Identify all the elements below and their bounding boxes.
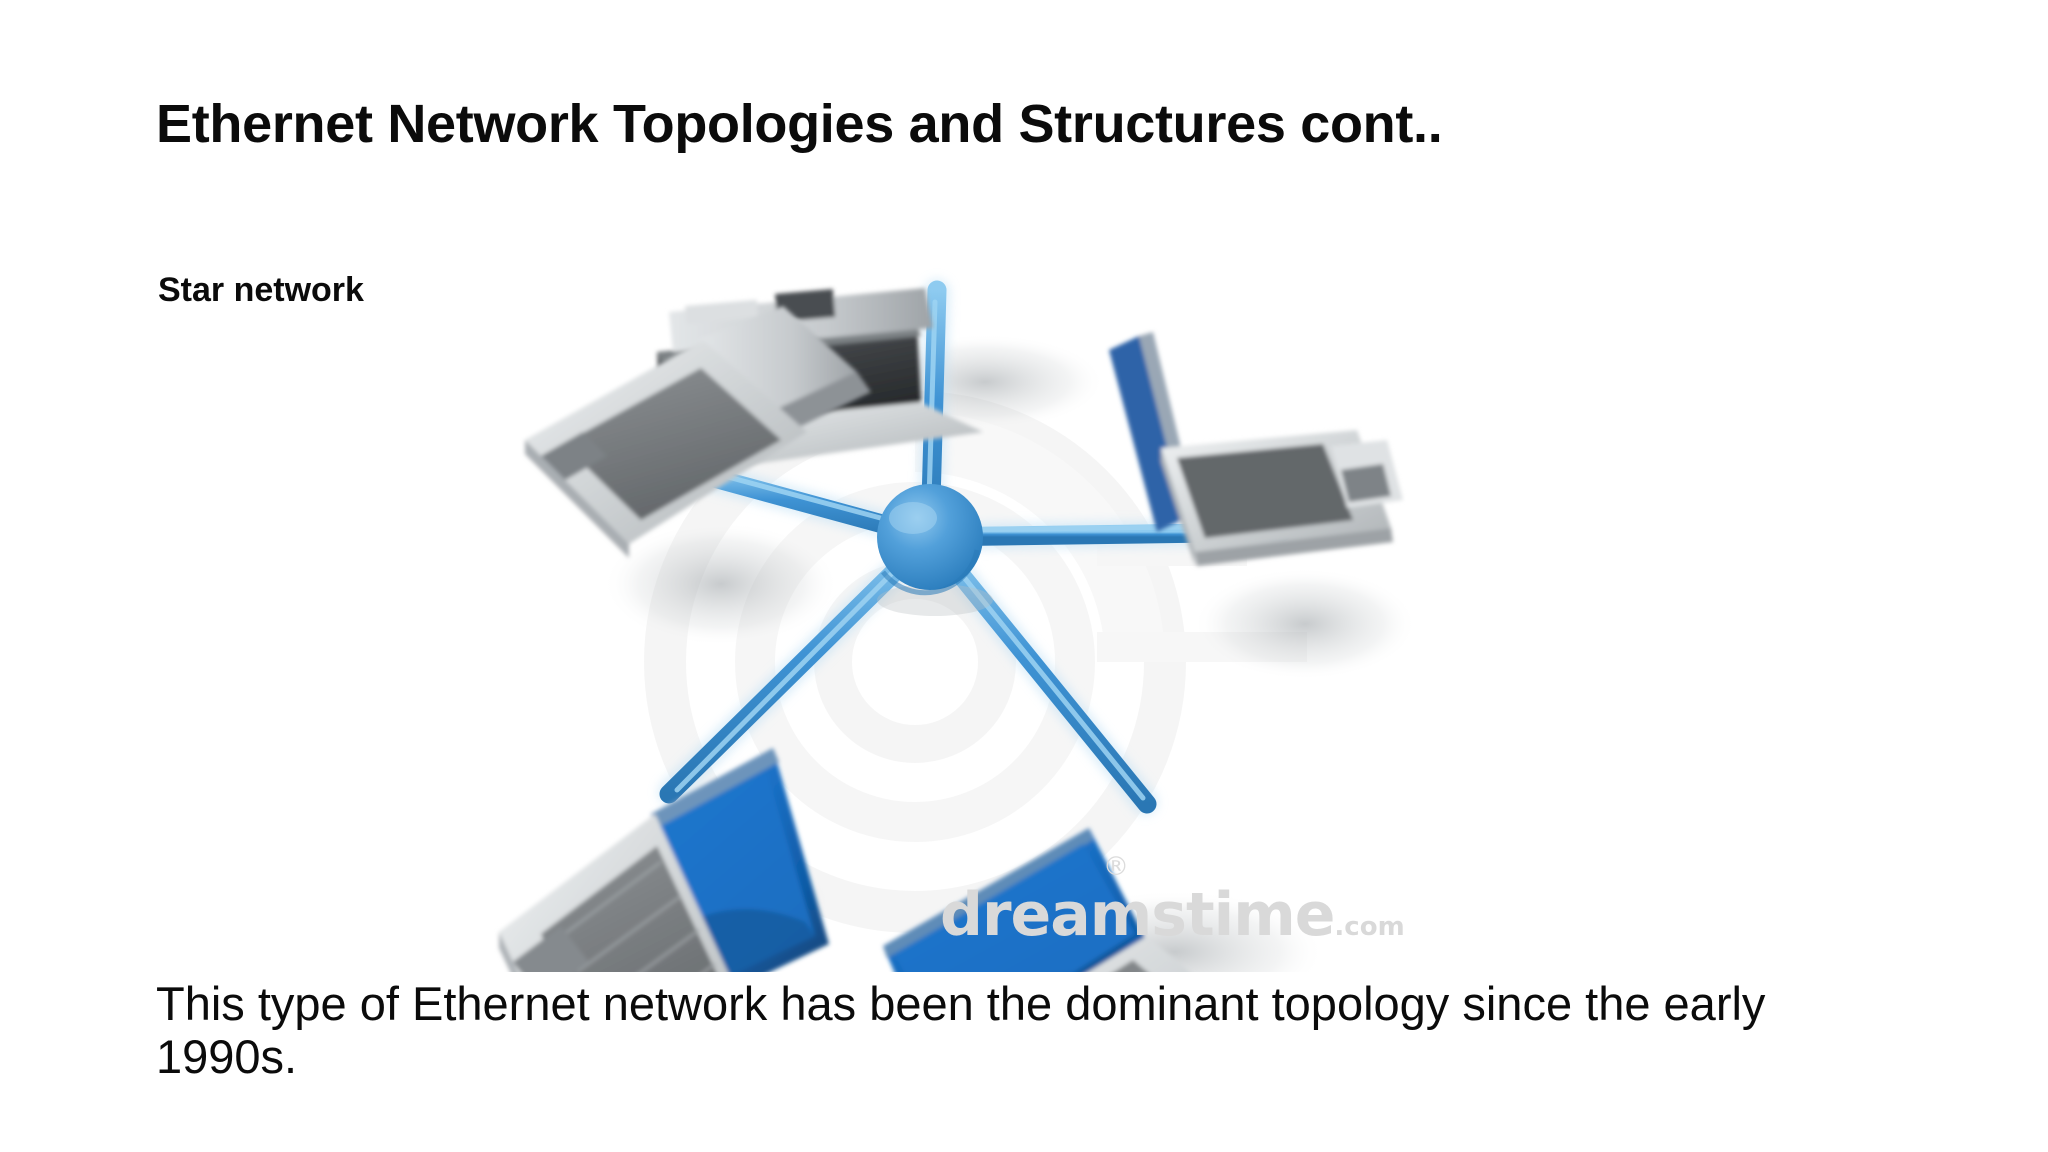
page-title: Ethernet Network Topologies and Structur… xyxy=(156,96,1916,153)
body-paragraph: This type of Ethernet network has been t… xyxy=(156,978,1876,1083)
slide-canvas: Ethernet Network Topologies and Structur… xyxy=(0,0,2048,1152)
section-subheading: Star network xyxy=(158,272,364,309)
star-network-illustration xyxy=(485,232,1485,972)
star-network-figure: ® dreamstime.com xyxy=(485,232,1485,972)
